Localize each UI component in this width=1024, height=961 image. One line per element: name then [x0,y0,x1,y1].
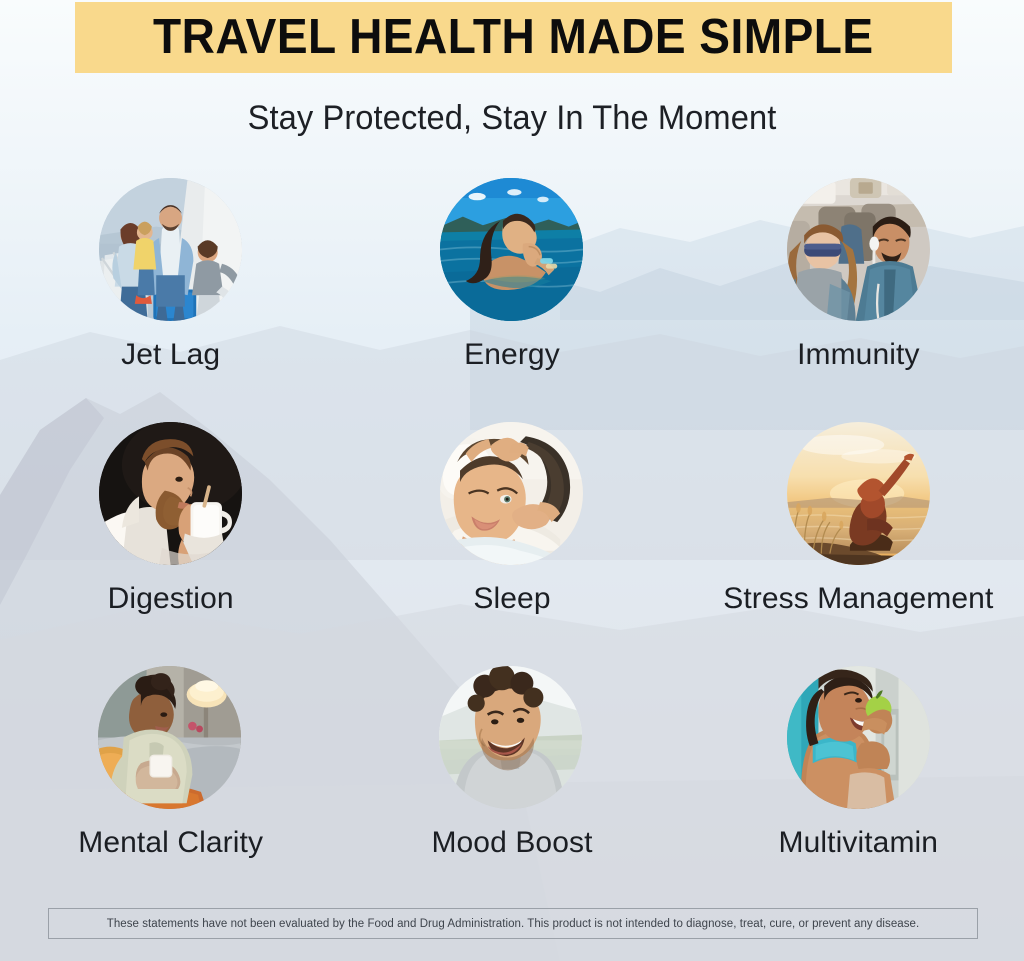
benefit-image-stress-management [787,422,930,565]
benefits-grid: Jet Lag [0,178,1024,906]
benefit-image-sleep [440,422,583,565]
benefit-item-digestion[interactable]: Digestion [0,422,341,662]
benefit-label: Mental Clarity [78,825,263,861]
benefit-image-immunity [787,178,930,321]
benefit-label: Sleep [473,581,550,617]
benefit-item-mood-boost[interactable]: Mood Boost [341,666,682,906]
benefit-image-energy [440,178,583,321]
yoga-at-sunset-photo [787,422,930,565]
man-in-robe-with-mug-photo [99,422,242,565]
woman-swimming-in-lake-photo [440,178,583,321]
benefit-image-mental-clarity [98,666,241,809]
couple-sleeping-on-plane-photo [787,178,930,321]
woman-waking-in-bed-photo [440,422,583,565]
benefits-row: Mental Clarity [0,666,1024,906]
benefit-item-immunity[interactable]: Immunity [683,178,1024,418]
woman-with-green-apple-photo [787,666,930,809]
benefit-label: Jet Lag [121,337,220,373]
benefit-image-jet-lag [99,178,242,321]
disclaimer-box: These statements have not been evaluated… [48,908,978,939]
benefit-label: Stress Management [723,581,993,617]
infographic-root: TRAVEL HEALTH MADE SIMPLE Stay Protected… [0,0,1024,961]
benefit-item-multivitamin[interactable]: Multivitamin [683,666,1024,906]
benefit-label: Mood Boost [431,825,592,861]
benefit-label: Multivitamin [779,825,939,861]
title-banner: TRAVEL HEALTH MADE SIMPLE [75,2,952,73]
woman-on-couch-with-mug-photo [98,666,241,809]
benefit-label: Energy [464,337,560,373]
benefit-item-stress-management[interactable]: Stress Management [683,422,1024,662]
benefit-image-digestion [99,422,242,565]
benefit-item-energy[interactable]: Energy [341,178,682,418]
benefits-row: Digestion [0,422,1024,662]
benefit-image-multivitamin [787,666,930,809]
disclaimer-text: These statements have not been evaluated… [107,918,919,930]
benefit-image-mood-boost [439,666,582,809]
family-on-airplane-stairs-photo [99,178,242,321]
page-subtitle: Stay Protected, Stay In The Moment [20,99,1003,138]
benefit-label: Digestion [108,581,234,617]
benefit-item-jet-lag[interactable]: Jet Lag [0,178,341,418]
page-title: TRAVEL HEALTH MADE SIMPLE [153,13,874,62]
benefit-label: Immunity [797,337,920,373]
benefit-item-sleep[interactable]: Sleep [341,422,682,662]
benefits-row: Jet Lag [0,178,1024,418]
smiling-man-outdoors-photo [439,666,582,809]
benefit-item-mental-clarity[interactable]: Mental Clarity [0,666,341,906]
